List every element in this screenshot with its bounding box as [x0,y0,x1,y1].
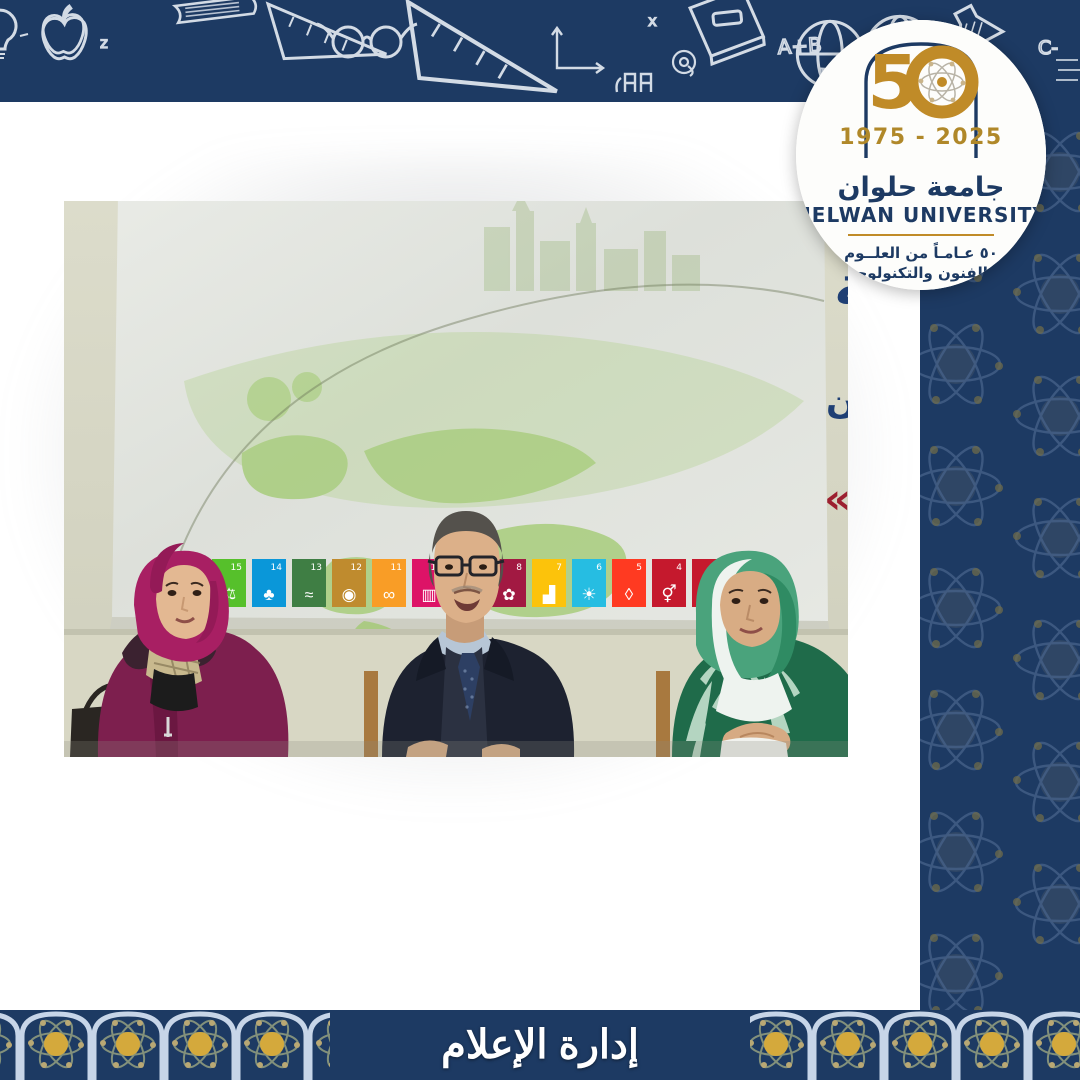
sdg-icon-13: 13 ≈ [292,559,326,607]
svg-text:C-: C- [1038,37,1058,59]
logo-tagline-line1: ٥٠ عـامـاً من العلــوم [844,242,998,262]
sdg-icon-4: 4 ⚥ [652,559,686,607]
photo-container: شئون خدمة المجتمع وتنمية البيئة كلية الخ… [64,201,848,757]
svg-text:15: 15 [231,563,242,573]
svg-text:4: 4 [676,563,682,573]
svg-text:6: 6 [596,563,602,573]
banner-welcome-text: « ترحب بالسادة الضيوف » [824,474,848,524]
svg-text:≈: ≈ [305,587,314,604]
svg-text:11: 11 [391,563,402,573]
svg-text:◉: ◉ [342,585,357,604]
sdg-icon-5: 5 ◊ [612,559,646,607]
sdg-icon-14: 14 ♣ [252,559,286,607]
photo-illustration: شئون خدمة المجتمع وتنمية البيئة كلية الخ… [64,201,848,757]
poster-root: A+B D+ C- A x z [0,0,1080,1080]
footer-title: إدارة الإعلام [0,1010,1080,1080]
svg-text:◊: ◊ [625,585,634,604]
svg-text:7: 7 [556,563,562,573]
svg-text:☀: ☀ [581,585,596,604]
sdg-icon-7: 7 ▟ [532,559,566,607]
logo-name-english: HELWAN UNIVERSITY [796,203,1046,227]
svg-text:A+B: A+B [777,33,822,59]
svg-text:14: 14 [271,563,283,573]
logo-name-arabic: جامعة حلوان [837,172,1004,203]
sdg-icon-12: 12 ◉ [332,559,366,607]
svg-text:▥: ▥ [421,587,436,604]
svg-text:13: 13 [311,563,322,573]
sdg-icon-11: 11 ∞ [372,559,406,607]
svg-text:▟: ▟ [542,585,556,604]
anniversary-zero-atom [912,52,972,112]
media-department-footer: إدارة الإعلام [0,1010,1080,1080]
svg-text:♣: ♣ [263,585,274,604]
svg-text:∞: ∞ [383,585,395,604]
logo-years: 1975 - 2025 [839,125,1002,150]
banner-heading-text: شئون خدمة المجتمع وتنمية البيئة [834,254,848,319]
panel-event-photograph: شئون خدمة المجتمع وتنمية البيئة كلية الخ… [64,201,848,757]
banner-subheading-text: كلية الخدمة الاجتماعية ـ جامعة حلوان [826,382,848,422]
svg-text:12: 12 [351,563,362,573]
svg-text:✿: ✿ [502,587,515,604]
svg-text:z: z [100,34,108,52]
sdg-icon-6: 6 ☀ [572,559,606,607]
svg-text:8: 8 [516,563,522,573]
svg-text:x: x [648,12,657,30]
svg-text:⚥: ⚥ [661,584,676,604]
helwan-university-50-anniversary-logo: 5 1975 - 2025 جامعة حلوان [796,20,1046,290]
svg-text:5: 5 [636,563,642,573]
logo-artwork: 5 1975 - 2025 جامعة حلوان [796,20,1046,290]
